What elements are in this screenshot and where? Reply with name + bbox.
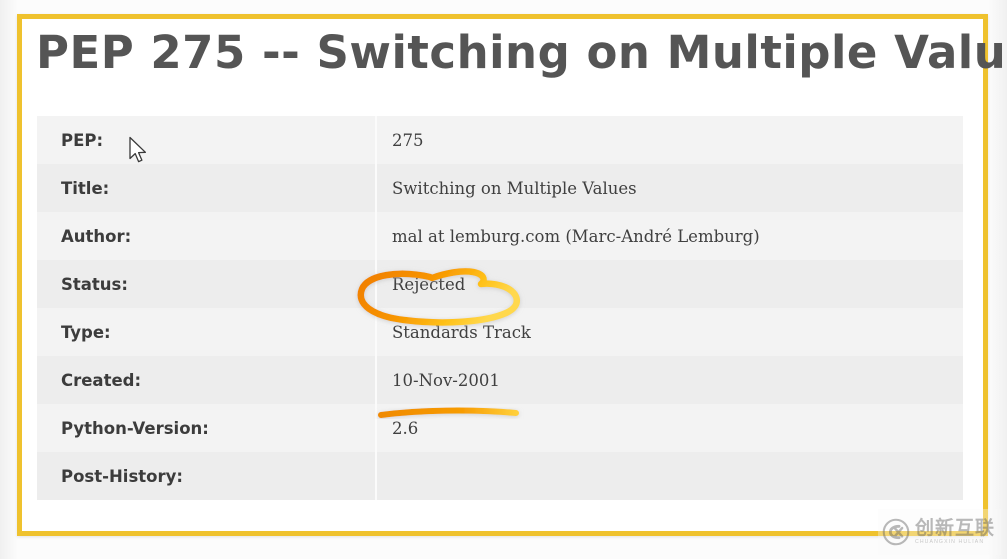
row-value-status: Rejected	[376, 260, 963, 308]
row-value: Switching on Multiple Values	[376, 164, 963, 212]
row-value-created: 10-Nov-2001	[376, 356, 963, 404]
watermark: 创新互联 CHUANGXIN HULIAN	[878, 509, 1001, 555]
row-label: PEP:	[37, 116, 376, 164]
table-row: Created: 10-Nov-2001	[37, 356, 963, 404]
page-title: PEP 275 -- Switching on Multiple Values	[36, 26, 1007, 79]
row-label: Python-Version:	[37, 404, 376, 452]
table-row: PEP: 275	[37, 116, 963, 164]
row-label: Author:	[37, 212, 376, 260]
row-label: Status:	[37, 260, 376, 308]
table-row: Type: Standards Track	[37, 308, 963, 356]
row-value: 2.6	[376, 404, 963, 452]
watermark-text: 创新互联 CHUANGXIN HULIAN	[915, 519, 995, 545]
row-label: Title:	[37, 164, 376, 212]
cx-circle-logo-icon	[882, 518, 910, 546]
pep-info-table: PEP: 275 Title: Switching on Multiple Va…	[37, 116, 963, 500]
table-row: Status: Rejected	[37, 260, 963, 308]
mouse-cursor-arrow-icon	[128, 136, 150, 166]
table-row: Author: mal at lemburg.com (Marc-André L…	[37, 212, 963, 260]
row-value: Standards Track	[376, 308, 963, 356]
pep-info-table-body: PEP: 275 Title: Switching on Multiple Va…	[37, 116, 963, 500]
watermark-brand-en: CHUANGXIN HULIAN	[915, 540, 995, 545]
table-row: Post-History:	[37, 452, 963, 500]
watermark-brand-cn: 创新互联	[915, 519, 995, 538]
row-value: mal at lemburg.com (Marc-André Lemburg)	[376, 212, 963, 260]
row-label: Post-History:	[37, 452, 376, 500]
row-label: Type:	[37, 308, 376, 356]
row-value: 275	[376, 116, 963, 164]
table-row: Title: Switching on Multiple Values	[37, 164, 963, 212]
row-label: Created:	[37, 356, 376, 404]
table-row: Python-Version: 2.6	[37, 404, 963, 452]
row-value	[376, 452, 963, 500]
